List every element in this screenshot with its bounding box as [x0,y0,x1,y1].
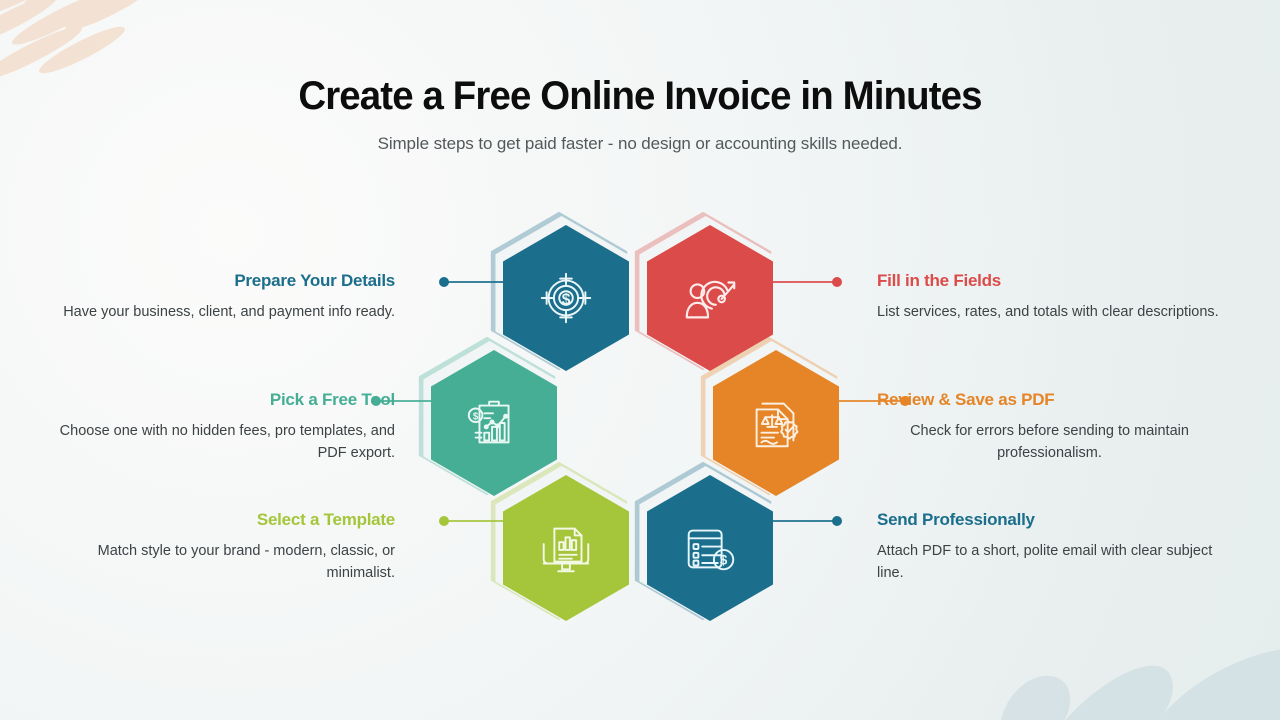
page-subtitle: Simple steps to get paid faster - no des… [0,134,1280,154]
step-description-review-and-save-as-pdf: Check for errors before sending to maint… [877,420,1222,464]
connector-fill-in-the-fields [771,281,837,283]
person-target-arrow-icon [679,267,741,329]
connector-line [771,281,837,283]
page-title: Create a Free Online Invoice in Minutes [26,74,1255,119]
blue-gray-blob-decoration [990,612,1280,720]
connector-send-professionally [771,520,837,522]
step-block-review-and-save-as-pdf: Review & Save as PDFCheck for errors bef… [877,390,1222,464]
svg-text:$: $ [473,412,479,423]
connector-dot [832,277,842,287]
slide-canvas: Create a Free Online Invoice in Minutes … [0,0,1280,720]
hexagon-cluster: $ $ [425,225,855,620]
step-title-review-and-save-as-pdf: Review & Save as PDF [877,390,1222,410]
step-title-send-professionally: Send Professionally [877,510,1222,530]
svg-text:$: $ [720,552,728,567]
monitor-report-chart-icon [535,517,597,579]
connector-dot [439,277,449,287]
svg-text:$: $ [562,291,571,308]
step-block-fill-in-the-fields: Fill in the FieldsList services, rates, … [877,271,1222,323]
step-description-select-a-template: Match style to your brand - modern, clas… [50,540,395,584]
step-title-select-a-template: Select a Template [50,510,395,530]
connector-select-a-template [444,520,510,522]
hexagon-select-a-template[interactable] [503,475,629,621]
target-dollar-icon: $ [535,267,597,329]
step-block-send-professionally: Send ProfessionallyAttach PDF to a short… [877,510,1222,584]
document-scales-badge-icon [745,392,807,454]
step-block-select-a-template: Select a TemplateMatch style to your bra… [50,510,395,584]
step-block-prepare-your-details: Prepare Your DetailsHave your business, … [50,271,395,323]
step-title-pick-a-free-tool: Pick a Free Tool [50,390,395,410]
clipboard-chart-dollar-icon: $ [463,392,525,454]
connector-prepare-your-details [444,281,510,283]
connector-dot [439,516,449,526]
connector-dot [832,516,842,526]
step-description-prepare-your-details: Have your business, client, and payment … [50,301,395,323]
step-description-pick-a-free-tool: Choose one with no hidden fees, pro temp… [50,420,395,464]
connector-line [771,520,837,522]
connector-line [444,520,510,522]
connector-line [444,281,510,283]
step-description-send-professionally: Attach PDF to a short, polite email with… [877,540,1222,584]
step-title-prepare-your-details: Prepare Your Details [50,271,395,291]
step-description-fill-in-the-fields: List services, rates, and totals with cl… [877,301,1222,323]
header: Create a Free Online Invoice in Minutes … [0,0,1280,154]
step-title-fill-in-the-fields: Fill in the Fields [877,271,1222,291]
invoice-list-coin-icon: $ [679,517,741,579]
hexagon-send-professionally[interactable]: $ [647,475,773,621]
step-block-pick-a-free-tool: Pick a Free ToolChoose one with no hidde… [50,390,395,464]
